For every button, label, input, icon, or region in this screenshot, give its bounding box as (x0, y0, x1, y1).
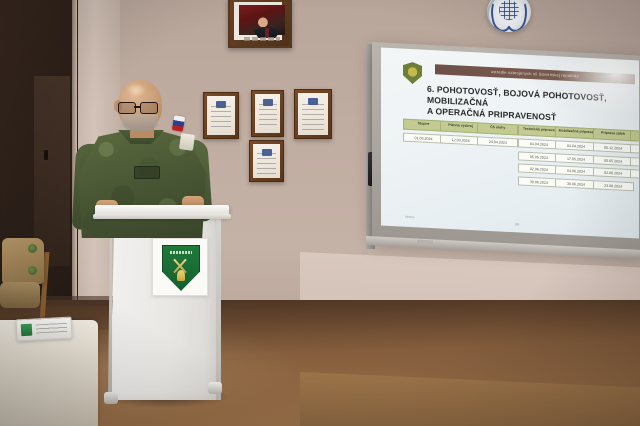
glasses-icon (140, 102, 158, 114)
slide-table-cell: 05.12.2024 (593, 143, 634, 154)
slovak-flag-patch-icon (172, 115, 185, 132)
slide-table-cell: 05.05.2024 (518, 151, 559, 162)
chair-seat (0, 282, 40, 308)
framed-certificate (294, 89, 332, 139)
slide-table-cell: 05.05.2024 (593, 155, 634, 166)
un-plate-rim (487, 0, 531, 32)
podium-right-edge (216, 218, 221, 400)
slide-table-cell: 04.04.2024 (518, 139, 559, 150)
unit-patch-icon (179, 133, 195, 151)
slide-table-header-cell: Stupne (403, 119, 444, 132)
slide-table-cell: Výcvik (630, 144, 639, 155)
chair-backrest (2, 238, 44, 284)
framed-certificate (251, 90, 284, 137)
slide-banner: ustredie ozbrojenych sil Slovenskej repu… (435, 64, 635, 84)
whiteboard: ustredie ozbrojenych sil Slovenskej repu… (372, 42, 640, 252)
slide-table-cell: 02.06.2024 (518, 164, 559, 175)
slide-table-cell: 02.06.2024 (593, 167, 634, 178)
certificate-paper (255, 94, 280, 133)
slide-table-cell: 01.03.2024 (403, 133, 444, 144)
un-emblem-icon (487, 0, 531, 32)
certificate-paper (298, 93, 328, 135)
slide-table-cell: 12.03.2024 (440, 135, 481, 146)
slide-table-header-cell: Príprava záloh (593, 128, 634, 141)
slide-table-cell: Cvičenia (630, 169, 639, 180)
podium-caster (208, 382, 222, 394)
presentation-slide: ustredie ozbrojenych sil Slovenskej repu… (399, 62, 635, 232)
slide-footer-left: strana (405, 215, 414, 219)
slide-table-header-cell: ČS úlohy (477, 122, 518, 135)
slide-table-column: NCPVýcvikKurzyCvičenia (630, 130, 639, 184)
photograph-scene: ustredie ozbrojenych sil Slovenskej repu… (0, 0, 640, 426)
certificate-text-lines (259, 104, 277, 128)
bell-icon (177, 270, 185, 281)
slide-banner-text: ustredie ozbrojenych sil Slovenskej repu… (435, 64, 635, 84)
slide-table-cell: 17.05.2024 (555, 153, 596, 164)
military-crest-logo-icon (403, 62, 422, 85)
green-shield-crest-icon (162, 245, 200, 291)
box-on-table (15, 317, 72, 342)
glasses-icon (118, 102, 136, 114)
portrait-caption-text (244, 37, 280, 41)
slide-table-column: Plánna výzbroj12.03.2024 (440, 120, 481, 149)
box-text-lines (36, 323, 67, 335)
glasses-bridge (134, 106, 140, 108)
certificate-text-lines (257, 153, 276, 174)
slide-table-column: Príprava záloh05.12.202405.05.202402.06.… (593, 128, 634, 194)
tray-clip (417, 240, 433, 245)
slide-table-cell: 24.04.2024 (477, 137, 518, 148)
slide-table-cell: 04.04.2024 (555, 141, 596, 152)
slide-table-header-cell: Plánna výzbroj (440, 120, 481, 133)
slide-table-header-cell: Mobilizačná príprava (555, 126, 596, 139)
slide-table-column: Mobilizačná príprava04.04.202417.05.2024… (555, 126, 596, 192)
slide-table-cell: 23.08.2024 (593, 180, 634, 191)
certificate-text-lines (302, 104, 324, 130)
slide-table-column: ČS úlohy24.04.2024 (477, 122, 518, 151)
beard (122, 114, 158, 132)
portrait-mat (234, 2, 282, 40)
slide-table-cell: 30.06.2024 (555, 178, 596, 189)
head-highlight (126, 83, 146, 97)
certificate-paper (253, 144, 280, 178)
crest-motto-text (170, 251, 192, 254)
podium-emblem-plaque (152, 238, 208, 296)
slide-table-cell: 04.06.2024 (555, 165, 596, 176)
slide-table-cell: Kurzy (630, 157, 639, 168)
slide-table-header-cell: Technická príprava (518, 124, 559, 137)
framed-certificate (249, 140, 284, 182)
podium-caster (104, 392, 118, 404)
slide-table-cell: 30.06.2024 (518, 176, 559, 187)
slide-table-header-cell: NCP (630, 130, 639, 143)
chair-stud (28, 266, 37, 275)
uniform-chest-pocket (134, 166, 160, 179)
door-latch-icon (44, 150, 48, 160)
box-green-label (21, 324, 33, 337)
portrait-photo (239, 5, 285, 35)
slide-table-column: Technická príprava04.04.202405.05.202402… (518, 124, 559, 190)
slide-table-column: Stupne01.03.2024 (403, 119, 444, 148)
podium-top-lip (93, 214, 231, 219)
slide-footer-center: SR (515, 222, 520, 226)
framed-portrait (228, 0, 292, 48)
chair-stud (28, 244, 37, 253)
projection-screen: ustredie ozbrojenych sil Slovenskej repu… (381, 47, 639, 238)
